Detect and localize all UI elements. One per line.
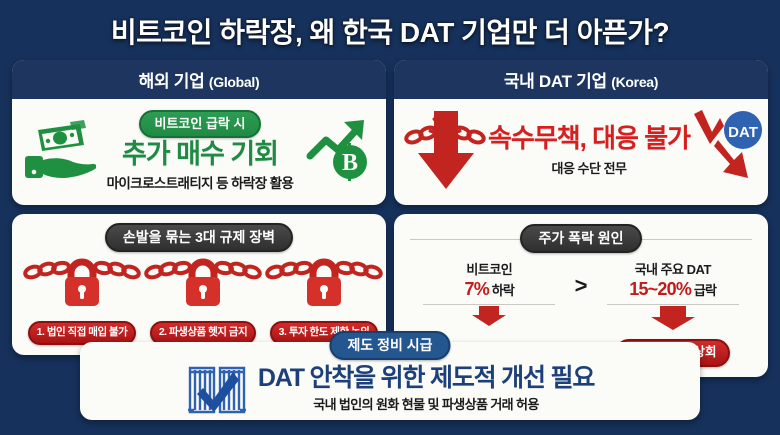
bottom-badge: 제도 정비 시급 [329, 331, 450, 360]
comparison-left-unit: 하락 [489, 283, 514, 298]
comparison-right-value: 15~20% 급락 [629, 279, 716, 300]
global-card-body: 비트코인 급락 시 추가 매수 기회 마이크로스트래티지 등 하락장 활용 [12, 99, 386, 205]
comparison-right-number: 15~20% [629, 279, 691, 299]
global-card: 해외 기업 (Global) [12, 60, 386, 205]
svg-text:DAT: DAT [728, 124, 758, 141]
bitcoin-uptrend-icon: B [304, 112, 376, 191]
bottom-headline: DAT 안착을 위한 제도적 개선 필요 [258, 365, 594, 391]
bottom-callout-card: 제도 정비 시급 [80, 342, 700, 420]
cause-badge: 주가 폭락 원인 [520, 224, 641, 253]
global-header-ko: 해외 기업 [139, 72, 205, 91]
korea-card-body: 속수무책, 대응 불가 대응 수단 전무 DAT [394, 99, 768, 205]
barrier-item-1: 1. 법인 직접 매입 불가 [23, 256, 141, 345]
comparison-left: 비트코인 7% 하락 [408, 259, 571, 332]
barrier-item-2: 2. 파생상품 헷지 금지 [144, 256, 262, 345]
global-card-header: 해외 기업 (Global) [12, 60, 386, 99]
bottom-subtext: 국내 법인의 원화 현물 및 파생상품 거래 허용 [313, 394, 539, 413]
global-header-en: (Global) [209, 74, 259, 90]
comparison-operator: > [575, 259, 588, 297]
global-headline: 추가 매수 기회 [122, 140, 278, 168]
korea-card-header: 국내 DAT 기업 (Korea) [394, 60, 768, 99]
barrier-label-2: 2. 파생상품 헷지 금지 [150, 321, 256, 345]
left-panel-column: 해외 기업 (Global) [12, 60, 386, 364]
broken-chain-down-arrow-icon [404, 105, 488, 198]
page-title-bar: 비트코인 하락장, 왜 한국 DAT 기업만 더 아픈가? [0, 8, 780, 54]
cash-in-hand-icon [22, 112, 96, 191]
barriers-list: 1. 법인 직접 매입 불가 [22, 256, 376, 345]
open-gate-check-icon [186, 358, 248, 421]
chained-padlock-icon [265, 256, 383, 317]
comparison-right-label: 국내 주요 DAT [635, 259, 711, 278]
korea-subtext: 대응 수단 전무 [552, 158, 627, 177]
global-subtext: 마이크로스트래티지 등 하락장 활용 [107, 172, 294, 192]
dat-logo-crash-arrow-icon: DAT [690, 106, 768, 197]
page-title: 비트코인 하락장, 왜 한국 DAT 기업만 더 아픈가? [111, 11, 669, 51]
korea-headline: 속수무책, 대응 불가 [488, 125, 690, 152]
comparison-right-unit: 급락 [691, 283, 716, 298]
korea-header-ko: 국내 DAT 기업 [504, 72, 607, 91]
comparison-left-label: 비트코인 [466, 259, 512, 278]
global-badge: 비트코인 급락 시 [139, 110, 262, 138]
barriers-card-body: 손발을 묶는 3대 규제 장벽 [12, 214, 386, 355]
comparison-left-value: 7% 하락 [465, 279, 515, 300]
barriers-badge: 손발을 묶는 3대 규제 장벽 [105, 223, 293, 252]
svg-text:B: B [342, 150, 358, 176]
cause-header: 주가 폭락 원인 [404, 224, 758, 253]
barrier-label-1: 1. 법인 직접 매입 불가 [28, 321, 137, 345]
barriers-card: 손발을 묶는 3대 규제 장벽 [12, 214, 386, 355]
small-down-arrow-icon [469, 305, 509, 332]
chained-padlock-icon [144, 256, 262, 317]
right-panel-column: 국내 DAT 기업 (Korea) [394, 60, 768, 386]
big-down-arrow-icon [647, 305, 699, 336]
chained-padlock-icon [23, 256, 141, 317]
korea-card: 국내 DAT 기업 (Korea) [394, 60, 768, 205]
comparison-left-number: 7% [465, 279, 489, 299]
korea-header-en: (Korea) [611, 74, 658, 90]
infographic-root: 비트코인 하락장, 왜 한국 DAT 기업만 더 아픈가? 해외 기업 (Glo… [0, 0, 780, 435]
